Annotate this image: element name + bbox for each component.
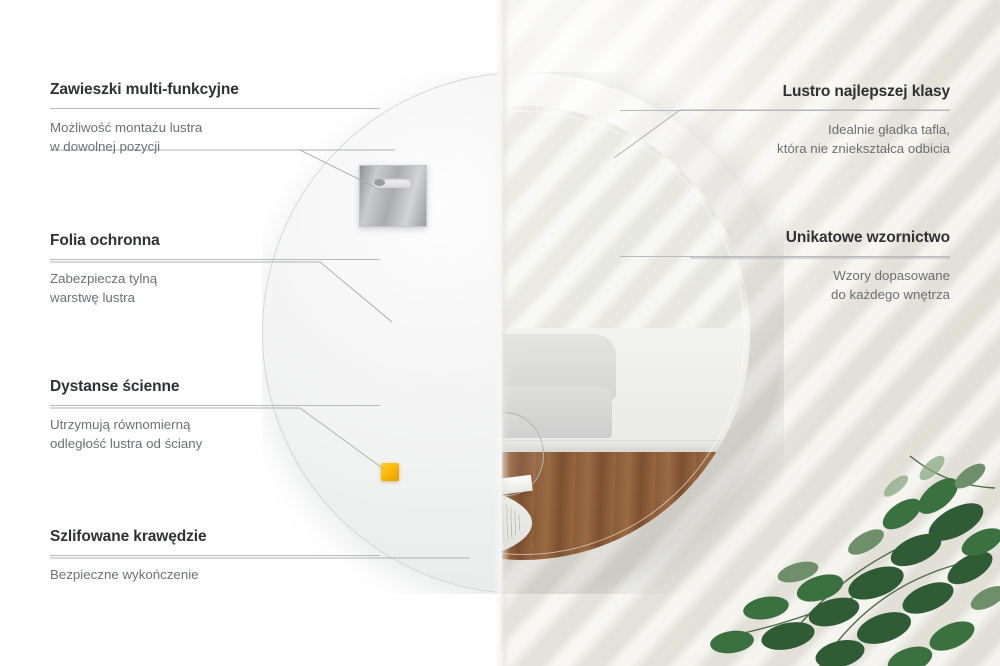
callout-rule xyxy=(50,108,380,109)
foliage-decoration xyxy=(670,336,1000,666)
callout-rule xyxy=(620,256,950,257)
infographic-stage: Zawieszki multi-funkcyjne Możliwość mont… xyxy=(0,0,1000,666)
callout-rule xyxy=(50,259,380,260)
callout-body: Idealnie gładka tafla, która nie znieksz… xyxy=(620,121,950,159)
callout-body: Wzory dopasowane do każdego wnętrza xyxy=(620,267,950,305)
callout-rule xyxy=(620,110,950,111)
hanger-plate xyxy=(359,165,427,227)
callout-rule xyxy=(50,405,380,406)
callout-body: Utrzymują równomierną odległość lustra o… xyxy=(50,416,380,454)
callout-hangers: Zawieszki multi-funkcyjne Możliwość mont… xyxy=(50,80,380,157)
callout-heading: Unikatowe wzornictwo xyxy=(620,228,950,247)
callout-ground-edges: Szlifowane krawędzie Bezpieczne wykończe… xyxy=(50,527,380,585)
hanger-keyhole-slot xyxy=(372,178,412,188)
callout-body: Możliwość montażu lustra w dowolnej pozy… xyxy=(50,119,380,157)
spacer-dot xyxy=(381,463,399,481)
callout-protective-film: Folia ochronna Zabezpiecza tylną warstwę… xyxy=(50,231,380,308)
callout-unique-design: Unikatowe wzornictwo Wzory dopasowane do… xyxy=(620,228,950,305)
callout-rule xyxy=(50,555,380,556)
callout-body: Zabezpiecza tylną warstwę lustra xyxy=(50,270,380,308)
callout-wall-spacers: Dystanse ścienne Utrzymują równomierną o… xyxy=(50,377,380,454)
callout-best-class-mirror: Lustro najlepszej klasy Idealnie gładka … xyxy=(620,82,950,159)
callout-heading: Zawieszki multi-funkcyjne xyxy=(50,80,380,99)
callout-heading: Folia ochronna xyxy=(50,231,380,250)
callout-heading: Dystanse ścienne xyxy=(50,377,380,396)
callout-body: Bezpieczne wykończenie xyxy=(50,566,380,585)
callout-heading: Lustro najlepszej klasy xyxy=(620,82,950,101)
callout-heading: Szlifowane krawędzie xyxy=(50,527,380,546)
